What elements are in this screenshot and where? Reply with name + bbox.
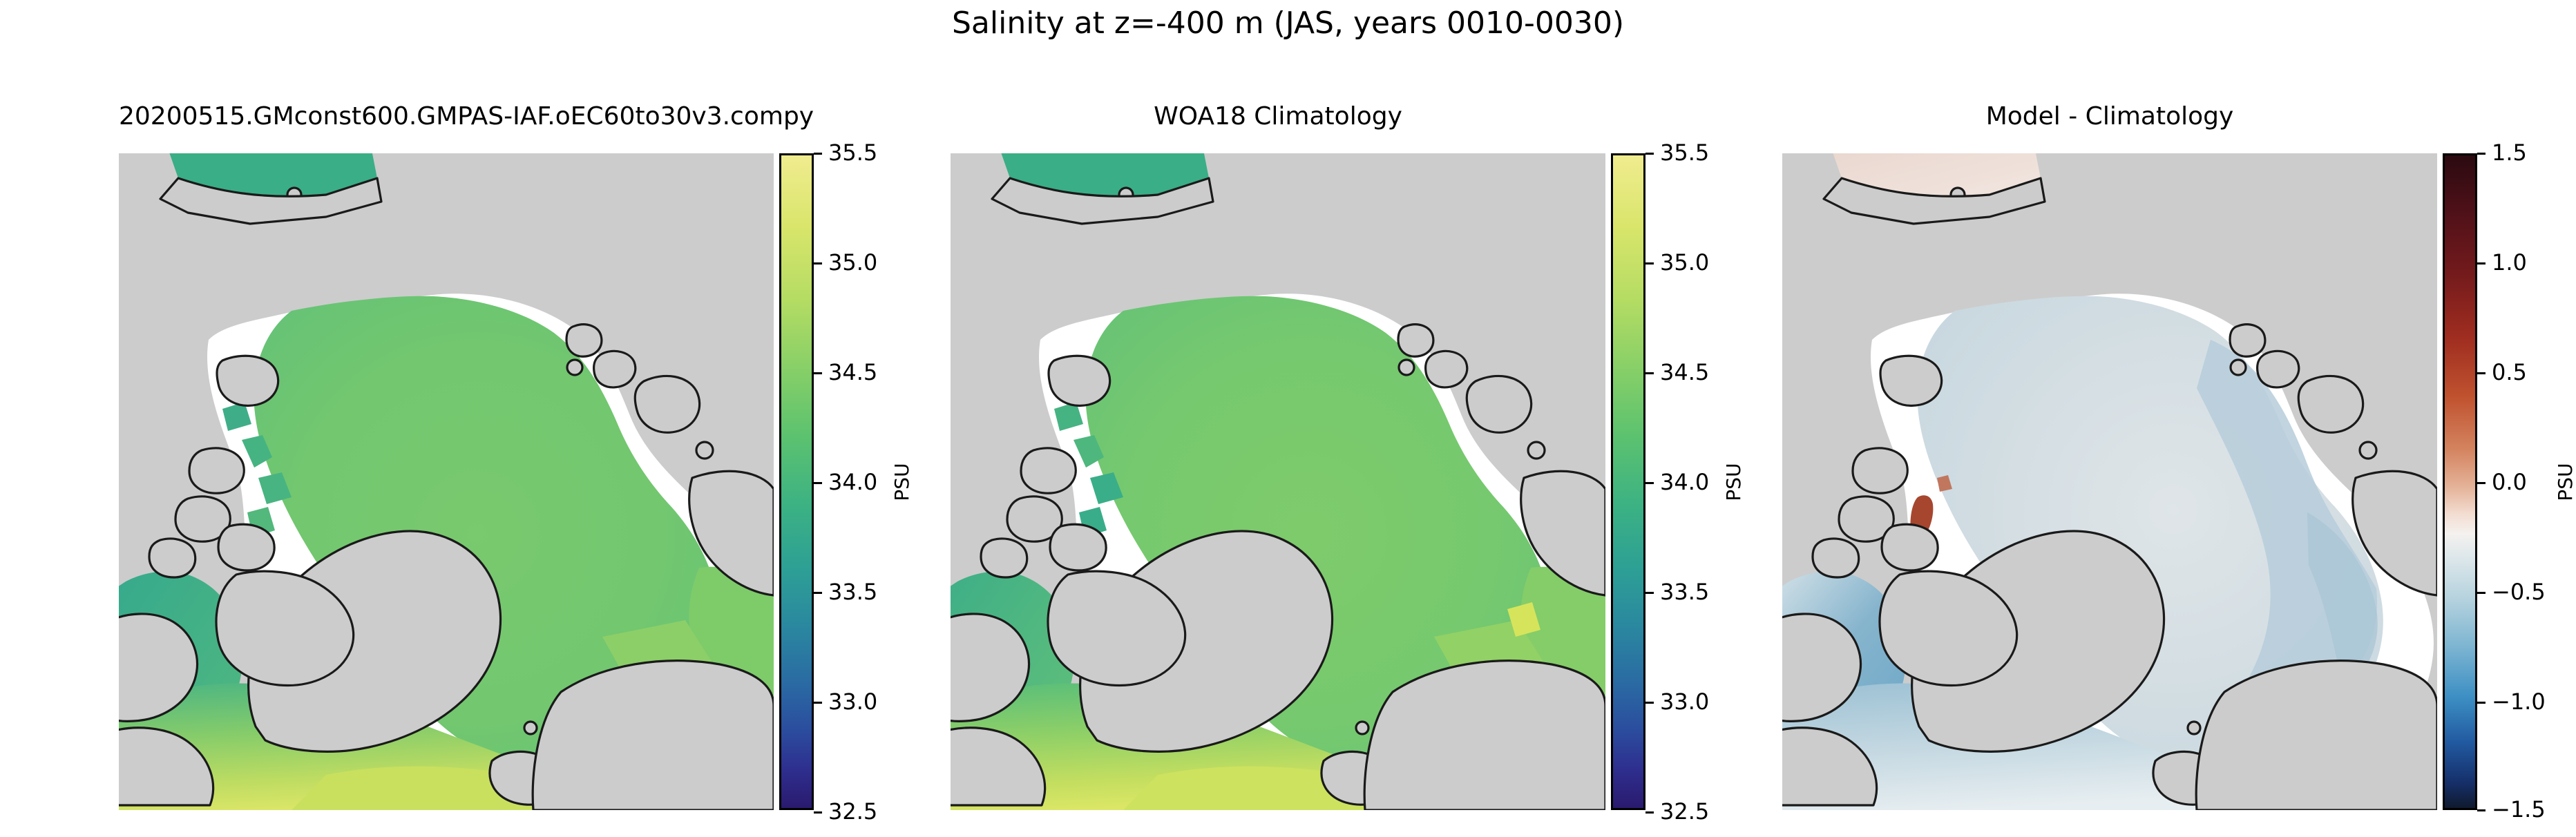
colorbar-strip-model [779,153,814,810]
figure-suptitle: Salinity at z=-400 m (JAS, years 0010-00… [0,6,2576,41]
colorbar-climatology: 35.5 35.0 34.5 34.0 33.5 33.0 32.5 PSU [1611,153,1645,810]
panel-difference: Model - Climatology [1782,153,2437,810]
colorbar-label-difference: PSU [2554,463,2576,501]
panel-title-climatology: WOA18 Climatology [951,102,1605,131]
colorbar-label-model: PSU [890,463,913,501]
map-difference [1782,153,2437,810]
panel-climatology: WOA18 Climatology [951,153,1605,810]
colorbar-ticks-model: 35.5 35.0 34.5 34.0 33.5 33.0 32.5 [814,153,938,810]
colorbar-difference: 1.5 1.0 0.5 0.0 −0.5 −1.0 −1.5 PSU [2443,153,2477,810]
map-model [119,153,774,810]
colorbar-strip-difference [2443,153,2477,810]
map-climatology [951,153,1605,810]
colorbar-ticks-climatology: 35.5 35.0 34.5 34.0 33.5 33.0 32.5 [1645,153,1770,810]
panel-title-difference: Model - Climatology [1782,102,2437,131]
panel-title-model: 20200515.GMconst600.GMPAS-IAF.oEC60to30v… [119,102,774,131]
colorbar-strip-climatology [1611,153,1645,810]
panel-model: 20200515.GMconst600.GMPAS-IAF.oEC60to30v… [119,153,774,810]
figure-canvas: Salinity at z=-400 m (JAS, years 0010-00… [0,0,2576,837]
colorbar-label-climatology: PSU [1722,463,1745,501]
colorbar-model: 35.5 35.0 34.5 34.0 33.5 33.0 32.5 PSU [779,153,814,810]
